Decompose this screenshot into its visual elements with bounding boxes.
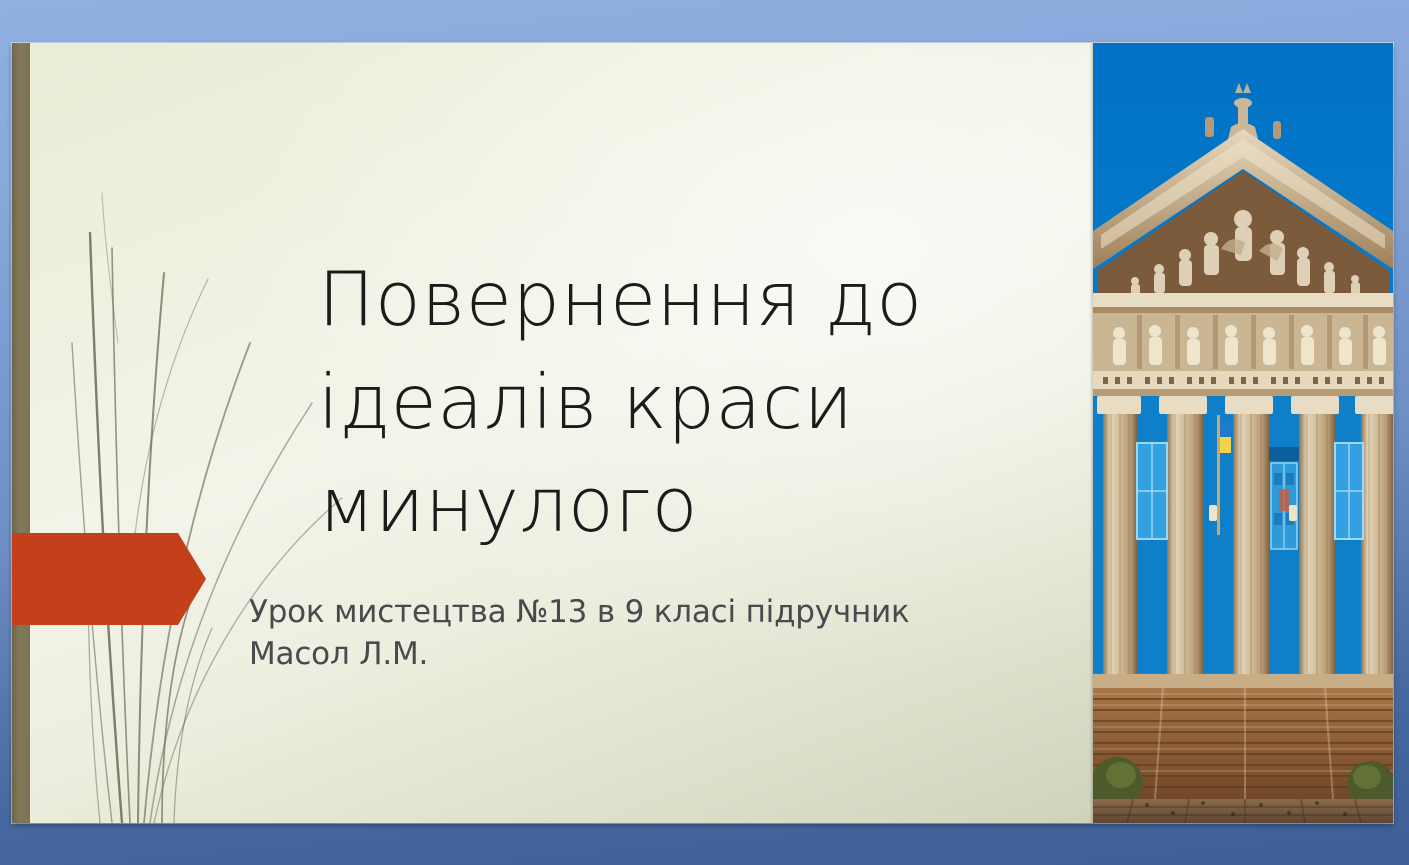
presentation-viewer: Повернення до ідеалів краси минулого Уро… (0, 0, 1409, 865)
title-block: Повернення до ідеалів краси минулого (318, 248, 1058, 556)
page-title: Повернення до ідеалів краси минулого (318, 248, 1058, 556)
olive-accent-bar (12, 43, 30, 823)
subtitle-block: Урок мистецтва №13 в 9 класі підручник М… (249, 591, 989, 676)
slide-canvas[interactable]: Повернення до ідеалів краси минулого Уро… (12, 43, 1393, 823)
slide-subtitle: Урок мистецтва №13 в 9 класі підручник М… (249, 591, 989, 676)
right-arrow-banner-icon (12, 533, 206, 625)
building-photo (1093, 43, 1393, 823)
